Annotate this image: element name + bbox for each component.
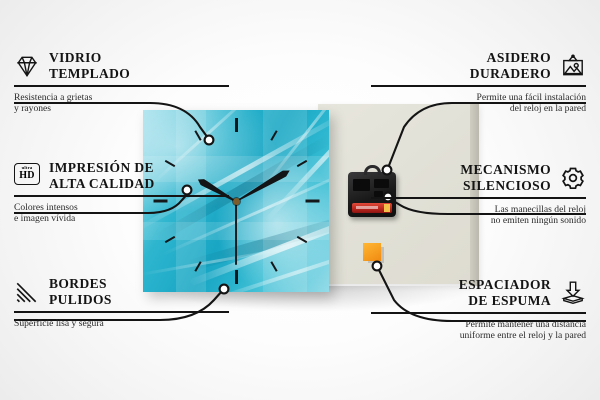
clock-tick — [305, 200, 319, 203]
feature-mecanismo-silencioso: MECANISMO SILENCIOSO Las manecillas del … — [371, 162, 586, 227]
clock-tick — [235, 118, 238, 132]
feature-title: IMPRESIÓN DE ALTA CALIDAD — [49, 160, 155, 191]
picture-frame-hanger-icon — [560, 53, 586, 79]
divider — [14, 195, 229, 197]
clock-second-hand — [235, 201, 237, 265]
clock-tick — [235, 270, 238, 284]
divider — [14, 311, 229, 313]
feature-subtitle: Permite una fácil instalación del reloj … — [371, 92, 586, 115]
feature-impresion-alta-calidad: ultra HD IMPRESIÓN DE ALTA CALIDAD Color… — [14, 160, 229, 225]
feature-subtitle: Permite mantener una distancia uniforme … — [371, 319, 586, 342]
feature-asidero-duradero: ASIDERO DURADERO Permite una fácil insta… — [371, 50, 586, 115]
movement-detail — [353, 179, 370, 191]
divider — [371, 85, 586, 87]
feature-subtitle: Las manecillas del reloj no emiten ningú… — [371, 204, 586, 227]
feature-title: BORDES PULIDOS — [49, 276, 112, 307]
gear-icon — [560, 165, 586, 191]
diamond-icon — [14, 53, 40, 79]
clock-center-cap — [233, 198, 240, 205]
ultra-hd-icon: ultra HD — [14, 163, 40, 189]
feature-title: ESPACIADOR DE ESPUMA — [459, 277, 551, 308]
press-down-arrow-icon — [560, 280, 586, 306]
feature-espaciador-de-espuma: ESPACIADOR DE ESPUMA Permite mantener un… — [371, 277, 586, 342]
divider — [14, 85, 229, 87]
feature-title: VIDRIO TEMPLADO — [49, 50, 130, 81]
feature-subtitle: Superficie lisa y segura — [14, 318, 229, 330]
feature-subtitle: Resistencia a grietas y rayones — [14, 92, 229, 115]
feature-bordes-pulidos: BORDES PULIDOS Superficie lisa y segura — [14, 276, 229, 329]
feature-vidrio-templado: VIDRIO TEMPLADO Resistencia a grietas y … — [14, 50, 229, 115]
feature-title: MECANISMO SILENCIOSO — [460, 162, 551, 193]
divider — [371, 197, 586, 199]
polished-edges-icon — [14, 279, 40, 305]
divider — [371, 312, 586, 314]
feature-subtitle: Colores intensos e imagen vívida — [14, 202, 229, 225]
feature-title: ASIDERO DURADERO — [470, 50, 551, 81]
foam-spacer[interactable] — [363, 243, 381, 261]
infographic-stage: VIDRIO TEMPLADO Resistencia a grietas y … — [0, 0, 600, 400]
